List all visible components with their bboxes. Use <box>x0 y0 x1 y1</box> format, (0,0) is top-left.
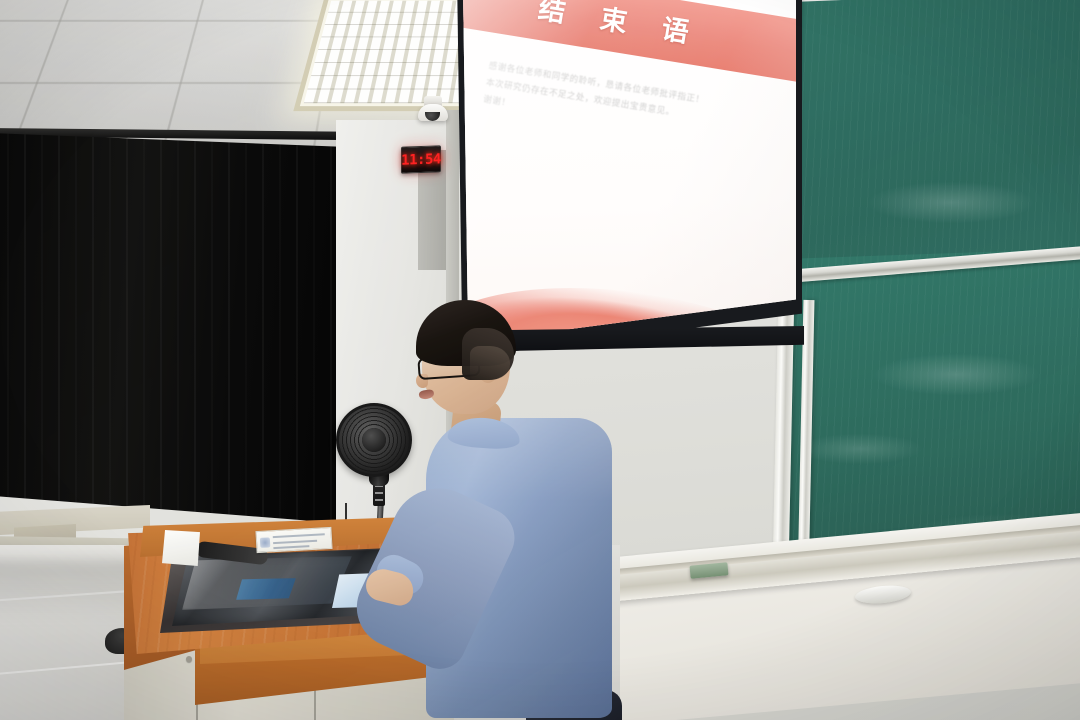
curtain-folds <box>0 133 338 523</box>
presentation-slide: 结 束 语 感谢各位老师和同学的聆听，恳请各位老师批评指正！ 本次研究仍存在不足… <box>458 0 796 346</box>
projector-screen[interactable]: 结 束 语 感谢各位老师和同学的聆听，恳请各位老师批评指正！ 本次研究仍存在不足… <box>458 0 796 346</box>
monitor-glare <box>182 556 352 610</box>
equipment-label-sticker <box>255 527 332 553</box>
fan-hub <box>362 428 386 452</box>
label-logo-icon <box>260 537 271 548</box>
classroom-photo: 11:54 结 束 语 感谢各位老师和同学的聆听，恳请各位老师批评指正！ 本次研… <box>0 0 1080 720</box>
blackout-curtain[interactable] <box>0 133 338 523</box>
label-text-line-2 <box>273 540 317 544</box>
led-wall-clock: 11:54 <box>401 145 441 173</box>
clock-time-readout: 11:54 <box>401 151 441 168</box>
presenter <box>390 300 640 720</box>
presenter-hair-fade <box>470 346 510 380</box>
label-text-line-3 <box>273 545 309 549</box>
cabinet-knob-left[interactable] <box>186 656 192 662</box>
paper-stack[interactable] <box>162 530 200 566</box>
dome-camera-icon <box>418 104 448 121</box>
label-text-line-1 <box>273 533 325 538</box>
